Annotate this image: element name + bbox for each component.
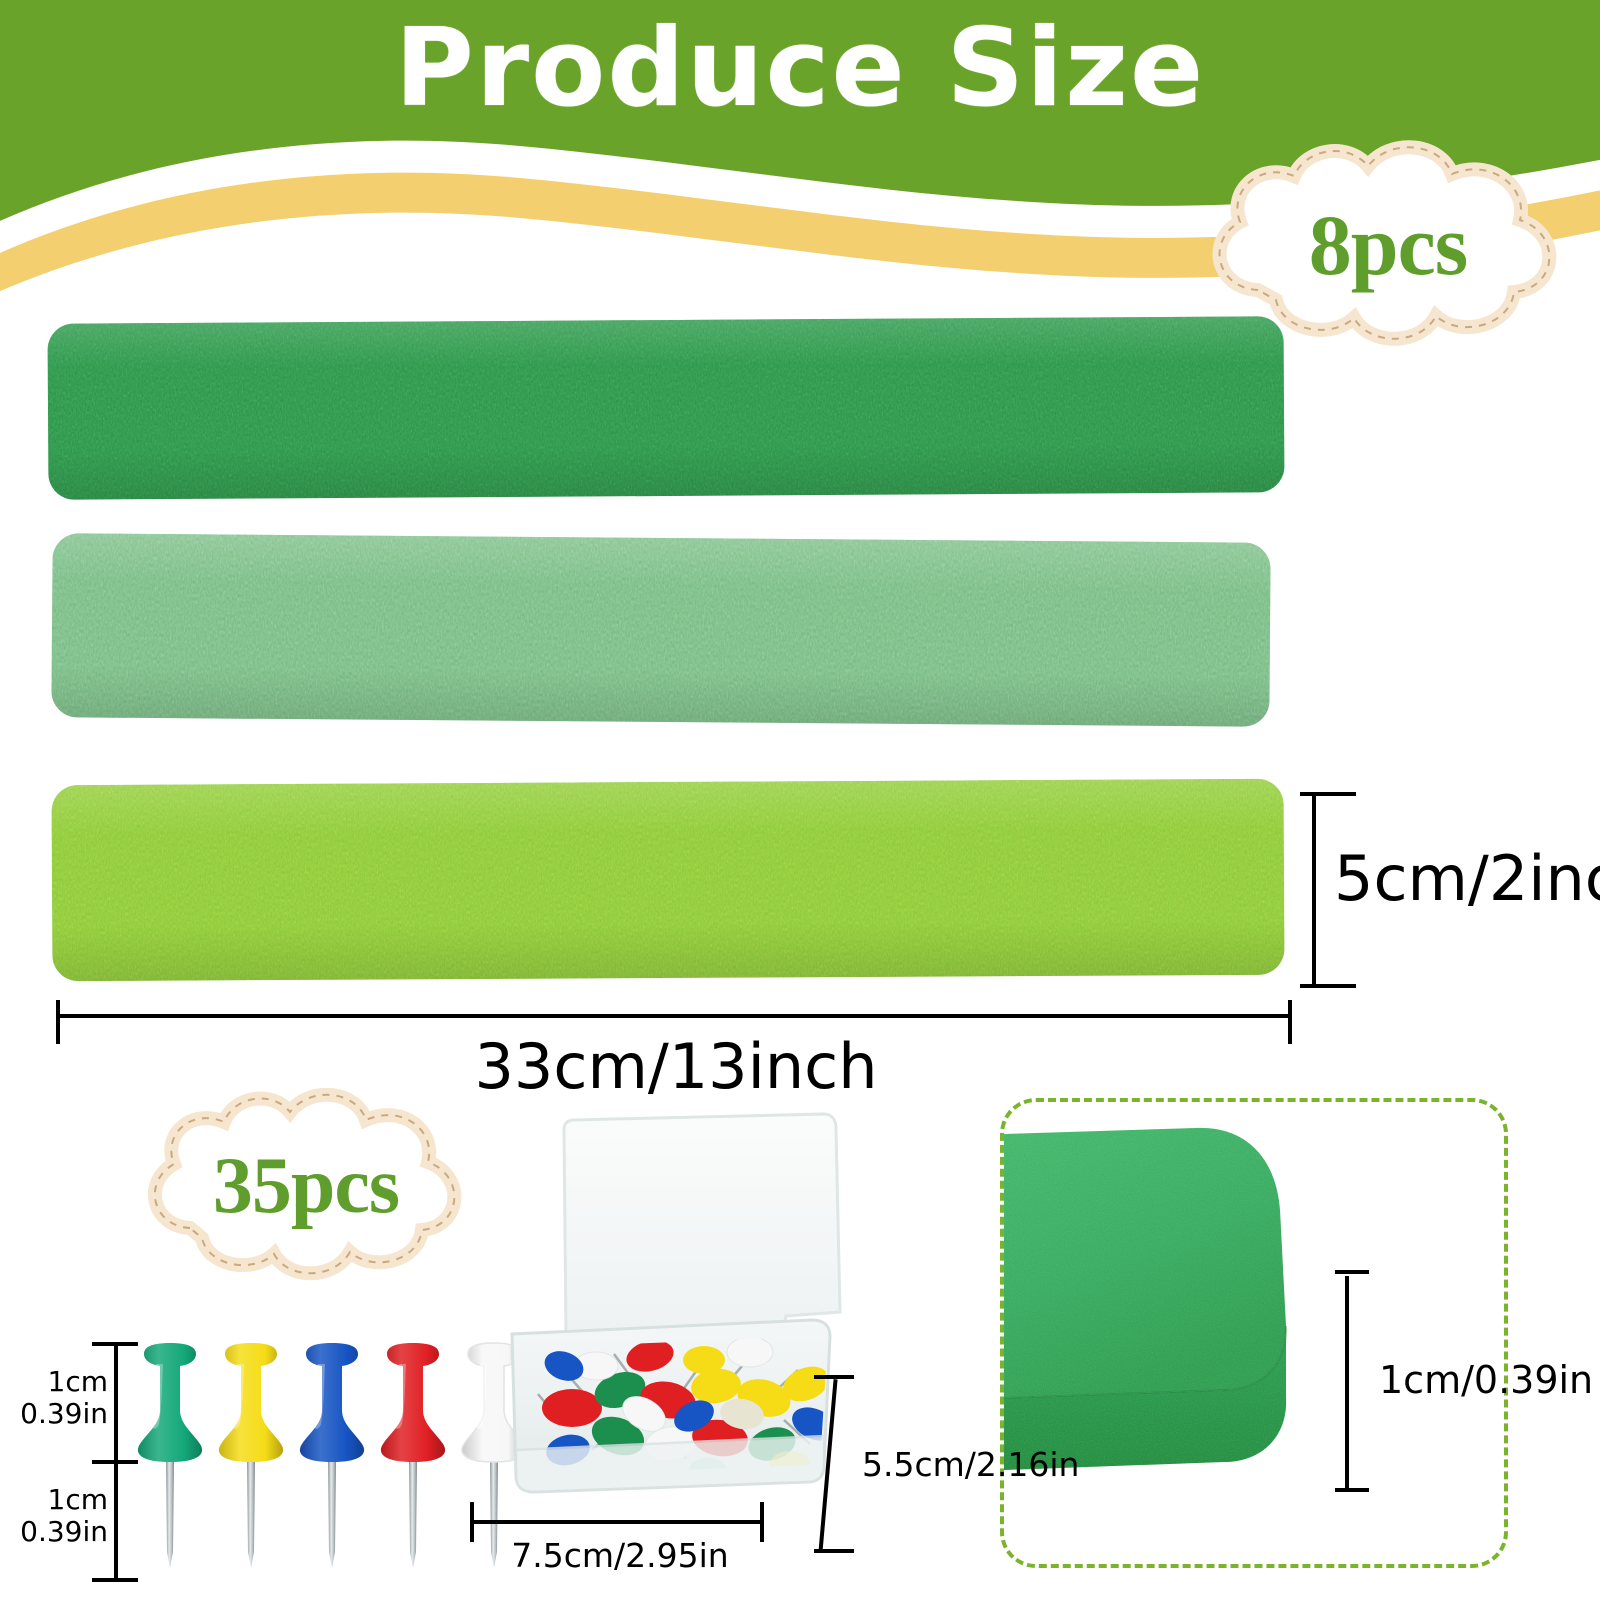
pin-needle [247, 1462, 255, 1568]
dimension-pin-needle-label: 1cm 0.39in [20, 1484, 108, 1548]
dimension-cap-top [92, 1342, 138, 1346]
blue-pushpin-glyph [292, 1340, 372, 1590]
dimension-cap-top [814, 1375, 854, 1379]
dimension-felt-thickness-label: 1cm/0.39in [1379, 1358, 1593, 1402]
yellow-pushpin [211, 1340, 291, 1590]
dimension-pin-head-label: 1cm 0.39in [20, 1366, 108, 1430]
dimension-line [474, 1520, 764, 1524]
pin-head-label-cm: 1cm [48, 1365, 108, 1398]
dimension-box-height: 5.5cm/2.16in [800, 1375, 1010, 1560]
felt-shading [51, 779, 1284, 981]
dimension-line [114, 1346, 118, 1582]
dimension-cap-bottom [1300, 984, 1356, 988]
dimension-felt-thickness: 1cm/0.39in [1335, 1270, 1575, 1500]
felt-strip-light-green [51, 779, 1284, 981]
dimension-line [1312, 796, 1316, 984]
felt-strip-medium-green [51, 533, 1270, 727]
infographic-canvas: Produce Size 8pcs [0, 0, 1600, 1600]
dimension-box-width: 7.5cm/2.95in [470, 1512, 770, 1592]
dimension-strip-width: 5cm/2inch [1300, 792, 1580, 988]
dimension-cap-bottom [1335, 1488, 1369, 1492]
dimension-line [1345, 1276, 1349, 1492]
dimension-cap-bottom [92, 1578, 138, 1582]
pin-needle [328, 1462, 336, 1568]
dimension-strip-width-label: 5cm/2inch [1334, 842, 1600, 915]
dimension-strip-length: 33cm/13inch [56, 1000, 1296, 1096]
pin-needle [409, 1462, 417, 1568]
felt-strip-dark-green [47, 316, 1284, 500]
badge-pins-count-label: 35pcs [136, 1088, 476, 1288]
pin-head [219, 1343, 283, 1462]
pin-head [300, 1343, 364, 1462]
dimension-box-width-label: 7.5cm/2.95in [470, 1536, 770, 1575]
blue-pushpin [292, 1340, 372, 1590]
pin-needle-label-in: 0.39in [20, 1515, 108, 1548]
dimension-cap-bottom [814, 1549, 854, 1553]
dimension-cap-top [1300, 792, 1356, 796]
dimension-cap-top [1335, 1270, 1369, 1274]
yellow-pushpin-glyph [211, 1340, 291, 1590]
dimension-pushpin-heights: 1cm 0.39in 1cm 0.39in [18, 1340, 168, 1590]
dimension-cap-middle [92, 1460, 138, 1464]
dimension-box-height-label: 5.5cm/2.16in [862, 1445, 1079, 1484]
badge-strips-count-label: 8pcs [1198, 140, 1578, 355]
red-pushpin-glyph [373, 1340, 453, 1590]
badge-pins-count: 35pcs [136, 1088, 476, 1288]
pin-needle-label-cm: 1cm [48, 1483, 108, 1516]
red-pushpin [373, 1340, 453, 1590]
felt-shading [51, 533, 1270, 727]
badge-strips-count: 8pcs [1198, 140, 1578, 355]
dimension-line [818, 1379, 837, 1553]
felt-shading [47, 316, 1284, 500]
dimension-line [60, 1014, 1292, 1018]
page-title: Produce Size [0, 10, 1600, 129]
box-lid [564, 1114, 840, 1336]
pin-head [381, 1343, 445, 1462]
pin-head-label-in: 0.39in [20, 1397, 108, 1430]
